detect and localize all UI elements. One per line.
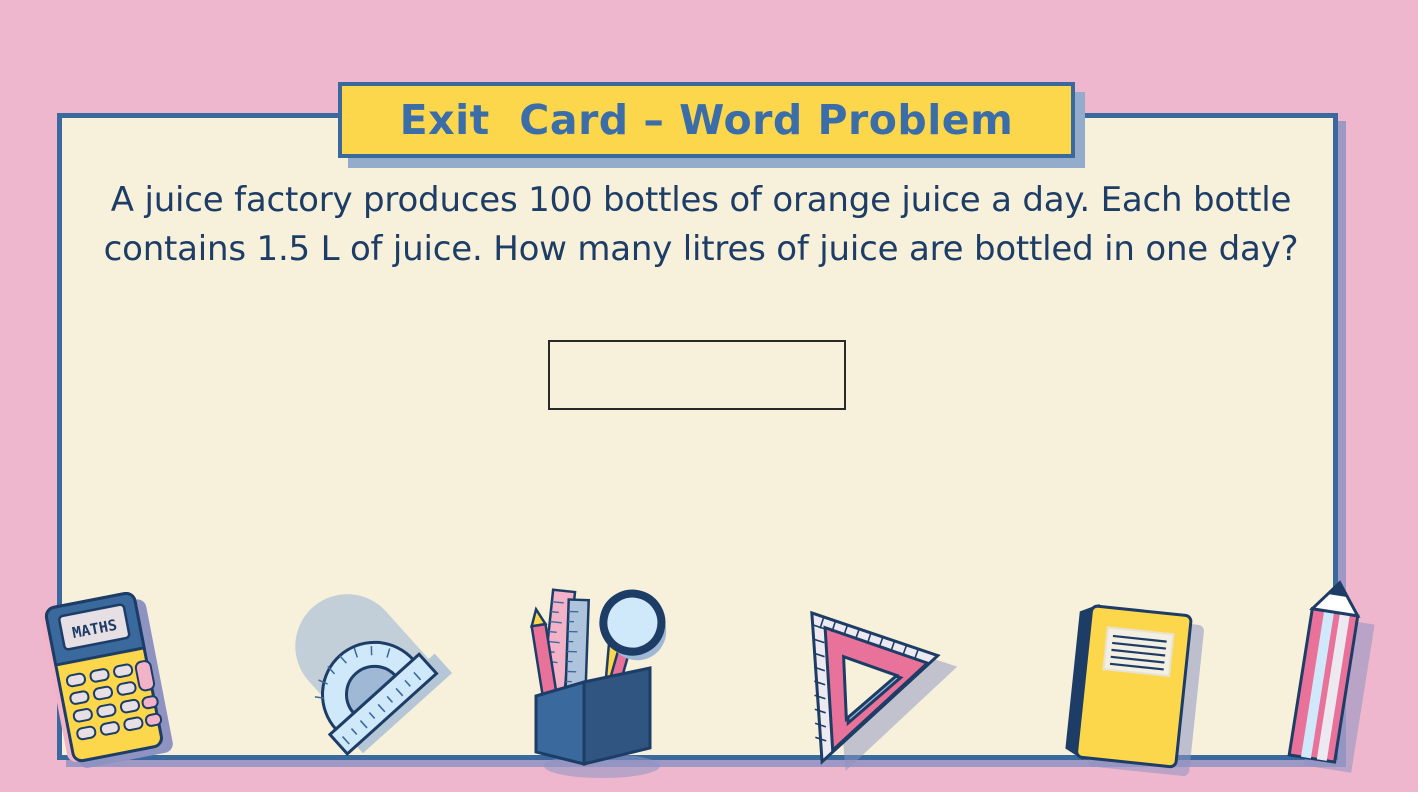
title-banner: Exit Card – Word Problem [338, 82, 1075, 158]
pencil-cup-illustration [510, 578, 670, 778]
page-title: Exit Card – Word Problem [400, 100, 1014, 141]
word-problem-text: A juice factory produces 100 bottles of … [96, 176, 1306, 274]
pencil-illustration [1268, 576, 1388, 776]
protractor-illustration [268, 595, 448, 770]
set-square-illustration [768, 598, 968, 778]
calculator-illustration: MATHS [20, 582, 200, 782]
answer-box[interactable] [548, 340, 846, 410]
notebook-illustration [1040, 594, 1220, 774]
